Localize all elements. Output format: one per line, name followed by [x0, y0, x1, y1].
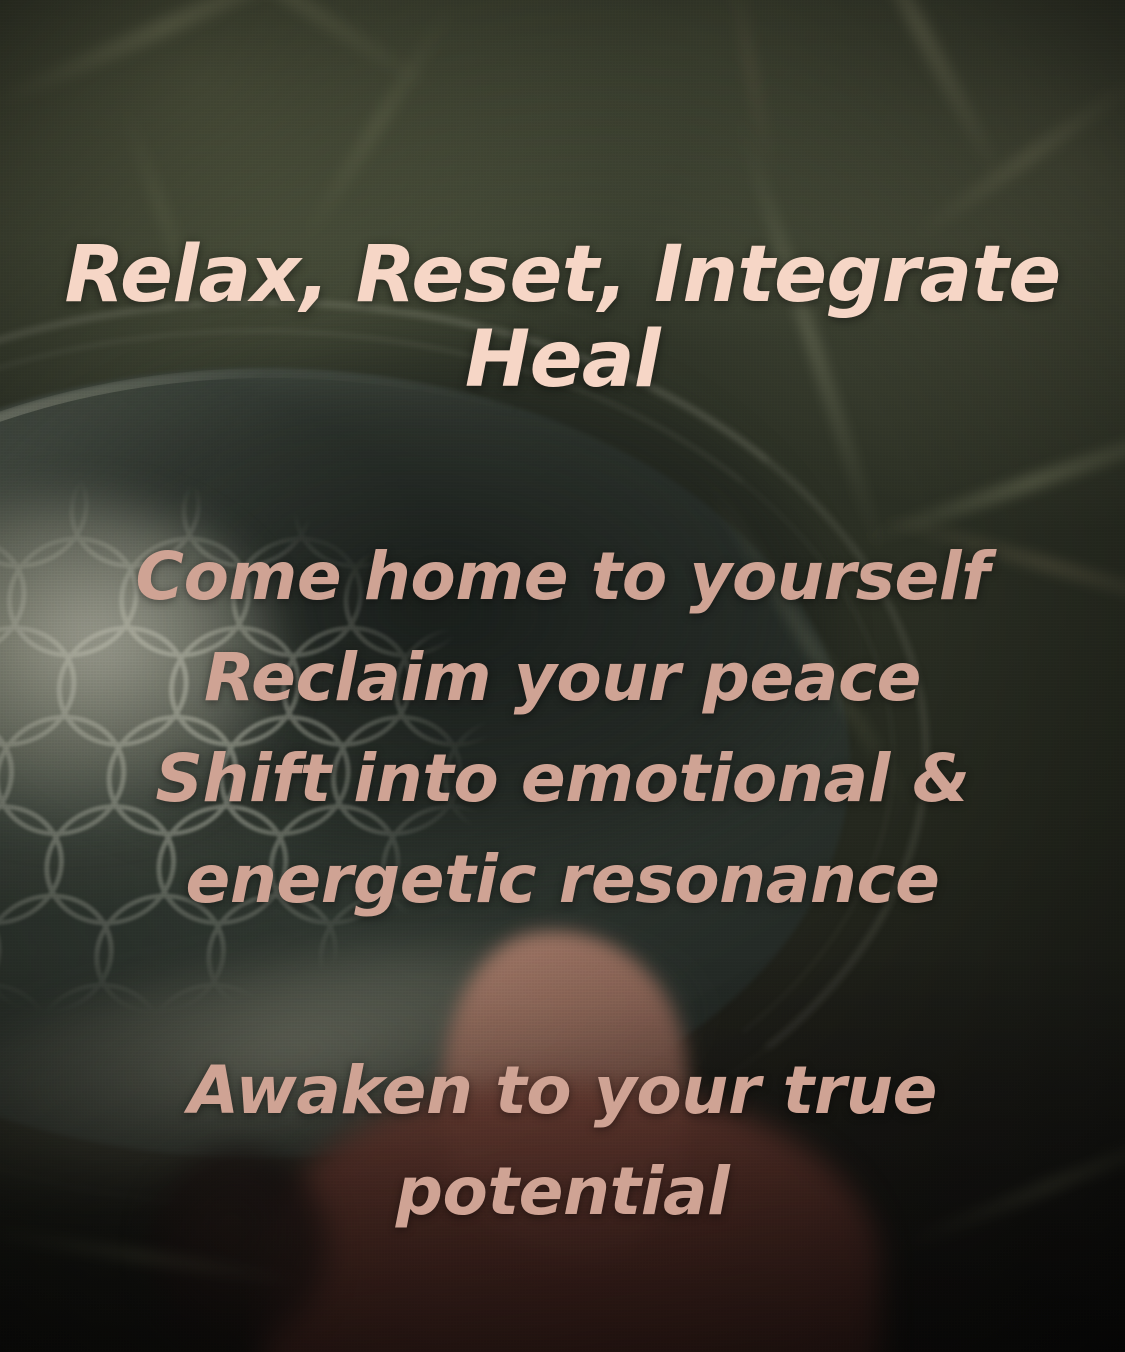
- page-title: Relax, Reset, Integrate Heal: [0, 233, 1125, 403]
- headline-line-1: Relax, Reset, Integrate: [40, 233, 1085, 318]
- affirmation-line-3: Shift into emotional &: [60, 729, 1065, 830]
- affirmation-line-1: Come home to yourself: [60, 527, 1065, 628]
- affirmation-line-4: energetic resonance: [60, 830, 1065, 931]
- headline-line-2: Heal: [40, 318, 1085, 403]
- text-content: Relax, Reset, Integrate Heal Come home t…: [0, 0, 1125, 1352]
- closing-statement-block: Awaken to your true potential: [0, 1041, 1125, 1243]
- affirmation-line-2: Reclaim your peace: [60, 628, 1065, 729]
- closing-line-2: potential: [60, 1142, 1065, 1243]
- affirmation-block: Come home to yourself Reclaim your peace…: [0, 527, 1125, 931]
- closing-line-1: Awaken to your true: [60, 1041, 1065, 1142]
- poster-canvas: Relax, Reset, Integrate Heal Come home t…: [0, 0, 1125, 1352]
